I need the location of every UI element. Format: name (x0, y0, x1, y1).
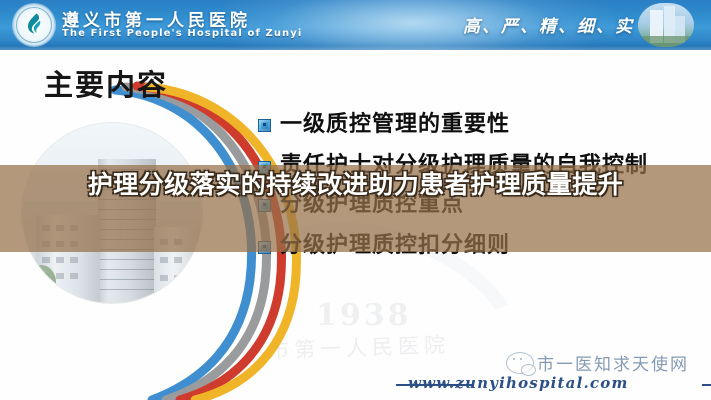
site-watermark: 市一医知求天使网 www.zunyihospital.com (506, 350, 706, 394)
photo-tree-left (26, 265, 56, 299)
header-building-photo (638, 3, 694, 47)
slide-title: 主要内容 (44, 62, 168, 104)
watermark-url: www.zunyihospital.com (408, 374, 629, 392)
watermark-account-name: 市一医知求天使网 (537, 350, 689, 375)
hospital-header-banner: 遵义市第一人民医院 The First People's Hospital of… (0, 0, 711, 50)
hospital-name-english: The First People's Hospital of Zunyi (62, 28, 302, 39)
hospital-emblem-icon (13, 4, 55, 46)
background-watermark-year: 1938 (316, 298, 412, 333)
screenshot-root: 遵义市第一人民医院 The First People's Hospital of… (0, 0, 711, 400)
bullet-label-1: 一级质控管理的重要性 (280, 112, 510, 137)
watermark-rule-right (702, 384, 711, 386)
building-greenery (638, 36, 694, 47)
bullet-item-1: 一级质控管理的重要性 (258, 112, 688, 137)
presentation-slide: 1938 市第一人民医院 (0, 50, 711, 400)
caption-overlay-text: 护理分级落实的持续改进助力患者护理质量提升 (0, 167, 711, 203)
wechat-bubble-icon (506, 352, 534, 374)
photo-tree-right (172, 273, 198, 301)
emblem-flame-glyph (23, 13, 45, 37)
blue-square-bullet-icon (258, 119, 271, 132)
hospital-slogan: 高、严、精、细、实 (463, 12, 634, 37)
background-watermark-name: 市第一人民医院 (268, 329, 451, 365)
